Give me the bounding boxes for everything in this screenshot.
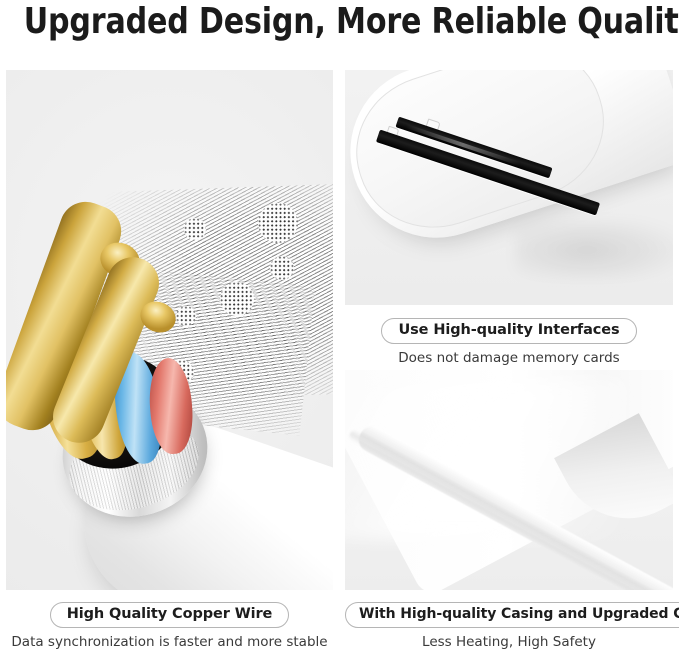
strand-bundle-face: [220, 282, 254, 316]
badge-casing: With High-quality Casing and Upgraded Ch…: [345, 602, 679, 628]
strand-bundle-face: [258, 203, 298, 243]
panel-interfaces: [345, 70, 673, 305]
copper-wire-illustration: [6, 70, 333, 590]
strand-bundle-face: [176, 306, 196, 326]
panel-casing: [345, 370, 673, 590]
subtitle-copper-wire: Data synchronization is faster and more …: [6, 634, 333, 650]
casing-illustration: [345, 370, 673, 590]
page-title: Upgraded Design, More Reliable Quality: [24, 0, 655, 48]
subtitle-interfaces: Does not damage memory cards: [345, 350, 673, 366]
badge-copper-wire: High Quality Copper Wire: [50, 602, 290, 628]
badge-interfaces: Use High-quality Interfaces: [381, 318, 636, 344]
caption-copper-wire: High Quality Copper Wire Data synchroniz…: [6, 602, 333, 650]
panel-copper-wire: [6, 70, 333, 590]
caption-interfaces: Use High-quality Interfaces Does not dam…: [345, 318, 673, 366]
card-reader-shadow: [515, 220, 673, 280]
strand-bundle-face: [270, 256, 294, 280]
caption-casing: With High-quality Casing and Upgraded Ch…: [345, 602, 673, 650]
subtitle-casing: Less Heating, High Safety: [345, 634, 673, 650]
strand-bundle-face: [184, 218, 206, 240]
card-reader-illustration: [345, 70, 673, 305]
